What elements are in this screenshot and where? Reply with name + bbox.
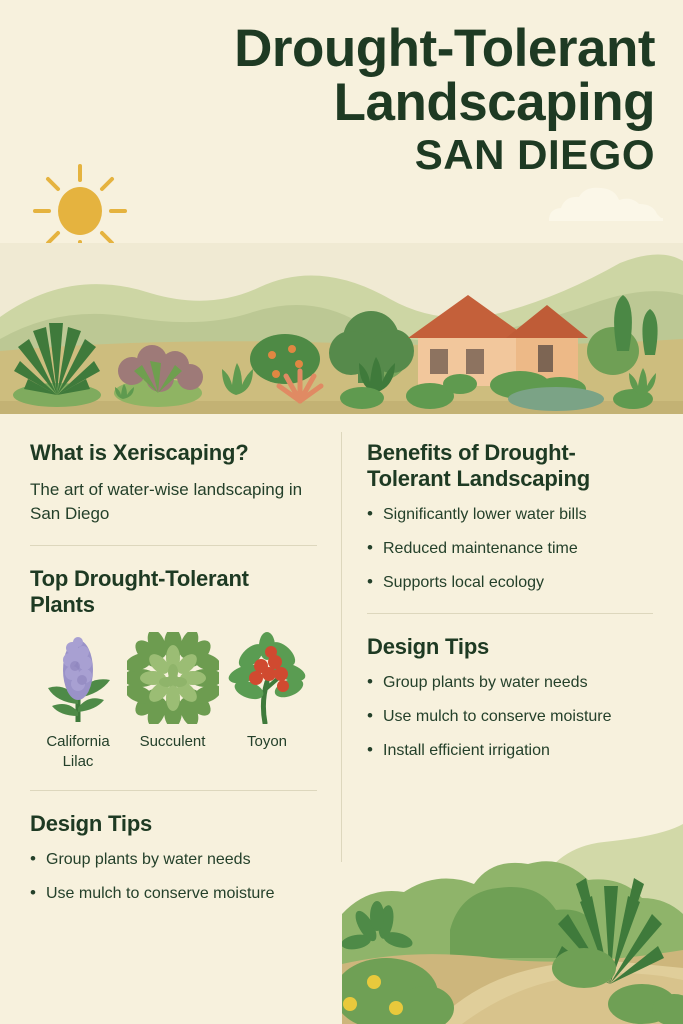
succulent-plant-icon (127, 632, 219, 724)
infographic-page: Drought-Tolerant Landscaping SAN DIEGO (0, 0, 683, 1024)
plants-row: California Lilac (30, 632, 317, 771)
lilac-plant-icon (38, 632, 118, 724)
lilac-plant-art (32, 632, 124, 724)
succulent-plant-art (127, 632, 219, 724)
hero-landscape-illustration (0, 243, 683, 414)
list-item: Install efficient irrigation (367, 740, 653, 761)
plant-label-california-lilac: California Lilac (32, 732, 124, 771)
plant-card-toyon: Toyon (221, 632, 313, 752)
header-section: Drought-Tolerant Landscaping SAN DIEGO (0, 0, 683, 248)
design-tips-list-right: Group plants by water needs Use mulch to… (367, 672, 653, 762)
page-title-line-2: Landscaping (55, 76, 655, 130)
section-divider-left-2 (30, 790, 317, 791)
list-item: Use mulch to conserve moisture (30, 883, 317, 904)
section-divider-right-1 (367, 613, 653, 614)
page-title-line-1: Drought-Tolerant (55, 22, 655, 76)
toyon-plant-icon (225, 632, 309, 724)
list-item: Use mulch to conserve moisture (367, 706, 653, 727)
section-divider-left-1 (30, 545, 317, 546)
design-tips-list-left: Group plants by water needs Use mulch to… (30, 849, 317, 905)
plant-card-california-lilac: California Lilac (32, 632, 124, 771)
section-heading-xeriscaping: What is Xeriscaping? (30, 440, 317, 466)
plant-card-succulent: Succulent (127, 632, 219, 752)
list-item: Supports local ecology (367, 572, 653, 593)
toyon-plant-art (221, 632, 313, 724)
cloud-icon (545, 182, 670, 224)
plant-label-succulent: Succulent (127, 732, 219, 752)
section-heading-design-tips-right: Design Tips (367, 634, 653, 660)
garden-path-illustration (342, 818, 683, 1024)
list-item: Significantly lower water bills (367, 504, 653, 525)
list-item: Reduced maintenance time (367, 538, 653, 559)
section-heading-benefits: Benefits of Drought-Tolerant Landscaping (367, 440, 653, 492)
title-block: Drought-Tolerant Landscaping SAN DIEGO (55, 22, 655, 177)
page-subtitle-location: SAN DIEGO (55, 134, 655, 177)
list-item: Group plants by water needs (367, 672, 653, 693)
section-body-xeriscaping: The art of water-wise landscaping in San… (30, 478, 317, 526)
section-heading-design-tips-left: Design Tips (30, 811, 317, 837)
list-item: Group plants by water needs (30, 849, 317, 870)
section-heading-top-plants: Top Drought-Tolerant Plants (30, 566, 317, 618)
left-column: What is Xeriscaping? The art of water-wi… (0, 414, 341, 1024)
plant-label-toyon: Toyon (221, 732, 313, 752)
benefits-list: Significantly lower water bills Reduced … (367, 504, 653, 594)
